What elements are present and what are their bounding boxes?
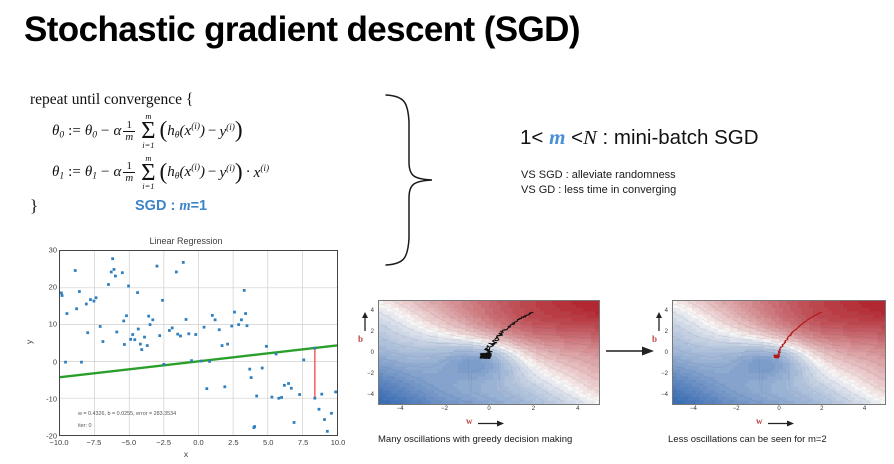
contour-right-caption: Less oscillations can be seen for m=2 (668, 434, 888, 446)
contour-x-tick-label: −2 (733, 406, 740, 412)
sgd-note-prefix: SGD : (135, 198, 179, 214)
x-tick-label: 0.0 (193, 438, 203, 447)
minibatch-nvar: N (583, 127, 597, 149)
contour-y-tick-label: 4 (371, 308, 374, 314)
paren-open-0: ( (160, 124, 168, 138)
y-term-1: y(i) (219, 164, 234, 182)
contour-x-tick-label: 0 (487, 406, 490, 412)
y-tick-label: 30 (49, 246, 57, 255)
minibatch-middle: < (565, 126, 583, 149)
one-over-m-1: 1 m (123, 161, 135, 184)
contour-x-tick-label: 4 (863, 406, 866, 412)
transition-arrow-icon (606, 344, 654, 358)
y-tick-label: 20 (49, 283, 57, 292)
sgd-m-equals-one-note: SGD : m=1 (135, 198, 207, 215)
alpha-sym-0: α (113, 123, 121, 140)
x-tick-label: −5.0 (121, 438, 136, 447)
contour-x-tick-label: −4 (690, 406, 697, 412)
paren-open-1: ( (160, 166, 168, 180)
h-theta-x-0: hθ(x(i)) (167, 122, 205, 140)
contour-left-y-ticks: 420−2−4 (358, 300, 377, 405)
contour-canvas-left (379, 301, 599, 404)
theta1-lhs: θ1 (52, 164, 64, 182)
theta1-equation: θ1 := θ1 − α 1 m m Σ i=1 ( hθ(x(i)) − y(… (52, 155, 370, 191)
contour-y-tick-label: 0 (665, 350, 668, 356)
x-axis-ticks: −10.0−7.5−5.0−2.50.02.55.07.510.0 (59, 436, 338, 452)
y-axis-ticks: 3020100-10-20 (26, 250, 59, 436)
right-arrow-icon-left (478, 419, 504, 428)
minibatch-headline: 1< m <N : mini-batch SGD (520, 125, 759, 150)
x-tick-label: 7.5 (298, 438, 308, 447)
contour-canvas-right (673, 301, 885, 404)
contour-x-tick-label: 0 (777, 406, 780, 412)
contour-y-tick-label: 0 (371, 350, 374, 356)
comparison-notes: VS SGD : alleviate randomness VS GD : le… (521, 168, 676, 198)
summation-0: m Σ i=1 (141, 113, 155, 149)
x-tick-label: 10.0 (331, 438, 346, 447)
sgd-note-var: m (179, 198, 190, 214)
x-tick-label: −7.5 (86, 438, 101, 447)
contour-x-tick-label: 2 (820, 406, 823, 412)
contour-x-tick-label: −4 (397, 406, 404, 412)
contour-x-tick-label: 2 (532, 406, 535, 412)
contour-right-w-label: w (756, 416, 763, 426)
right-arrow-icon-right (768, 419, 794, 428)
curly-brace-icon (382, 92, 442, 267)
minibatch-var: m (549, 125, 565, 149)
sgd-note-suffix: =1 (191, 198, 208, 214)
y-tick-label: 0 (53, 357, 57, 366)
paren-close-1: ) (235, 166, 243, 180)
x-tick-label: 5.0 (263, 438, 273, 447)
theta0-equation: θ0 := θ0 − α 1 m m Σ i=1 ( hθ(x(i)) − y(… (52, 113, 370, 149)
contour-y-tick-label: −4 (661, 392, 668, 398)
scatter-canvas (60, 251, 337, 435)
x-tick-label: −2.5 (156, 438, 171, 447)
summation-1: m Σ i=1 (141, 155, 155, 191)
minus-op-inner-0: − (208, 123, 216, 140)
x-tick-label: 2.5 (228, 438, 238, 447)
repeat-line: repeat until convergence { (30, 92, 370, 108)
contour-left-w-label: w (466, 416, 473, 426)
dot-op-1: · (246, 164, 251, 181)
linear-regression-chart: Linear Regression y x 3020100-10-20 −10.… (26, 236, 346, 464)
iteration-annotation: iter: 0 (78, 423, 91, 429)
page-title: Stochastic gradient descent (SGD) (24, 10, 580, 50)
assign-op-0: := (68, 123, 81, 140)
alpha-sym-1: α (113, 164, 121, 181)
contour-y-tick-label: 4 (665, 308, 668, 314)
h-theta-x-1: hθ(x(i)) (167, 163, 205, 181)
minibatch-after: : mini-batch SGD (597, 126, 759, 149)
contour-plot-right (672, 300, 886, 405)
minus-op-0: − (101, 123, 109, 140)
theta0-lhs: θ0 (52, 123, 64, 141)
contour-left-x-ticks: −4−2024 (378, 405, 600, 417)
minus-op-1: − (101, 164, 109, 181)
slide-root: Stochastic gradient descent (SGD) repeat… (0, 0, 894, 464)
minibatch-before: 1< (520, 126, 549, 149)
contour-plot-left (378, 300, 600, 405)
theta1-rhs: θ1 (85, 164, 97, 182)
minus-op-inner-1: − (208, 164, 216, 181)
contour-right-y-ticks: 420−2−4 (652, 300, 671, 405)
contour-x-tick-label: −2 (441, 406, 448, 412)
contour-right-x-ticks: −4−2024 (672, 405, 886, 417)
contour-y-tick-label: 2 (371, 329, 374, 335)
contour-chart-left: b 420−2−4 −4−2024 w Many oscillations wi… (358, 288, 608, 464)
chart-title: Linear Regression (26, 236, 346, 246)
assign-op-1: := (68, 164, 81, 181)
paren-close-0: ) (235, 124, 243, 138)
contour-y-tick-label: −4 (367, 392, 374, 398)
vs-sgd-line: VS SGD : alleviate randomness (521, 168, 676, 183)
plot-area (59, 250, 338, 436)
y-term-0: y(i) (219, 123, 234, 141)
gradient-descent-formula: repeat until convergence { θ0 := θ0 − α … (30, 92, 370, 215)
y-tick-label: -10 (46, 394, 57, 403)
one-over-m-0: 1 m (123, 120, 135, 143)
fit-annotation: w = 0.4326, b = 0.0255, error = 283.3534 (78, 411, 176, 417)
contour-x-tick-label: 4 (576, 406, 579, 412)
vs-gd-line: VS GD : less time in converging (521, 183, 676, 198)
x-tick-label: −10.0 (50, 438, 69, 447)
contour-y-tick-label: −2 (661, 371, 668, 377)
contour-y-tick-label: 2 (665, 329, 668, 335)
contour-left-caption: Many oscillations with greedy decision m… (378, 434, 593, 446)
y-tick-label: 10 (49, 320, 57, 329)
theta0-rhs: θ0 (85, 123, 97, 141)
x-term-1: x(i) (254, 164, 269, 182)
contour-y-tick-label: −2 (367, 371, 374, 377)
contour-chart-right: b 420−2−4 −4−2024 w Less oscillations ca… (652, 288, 894, 464)
